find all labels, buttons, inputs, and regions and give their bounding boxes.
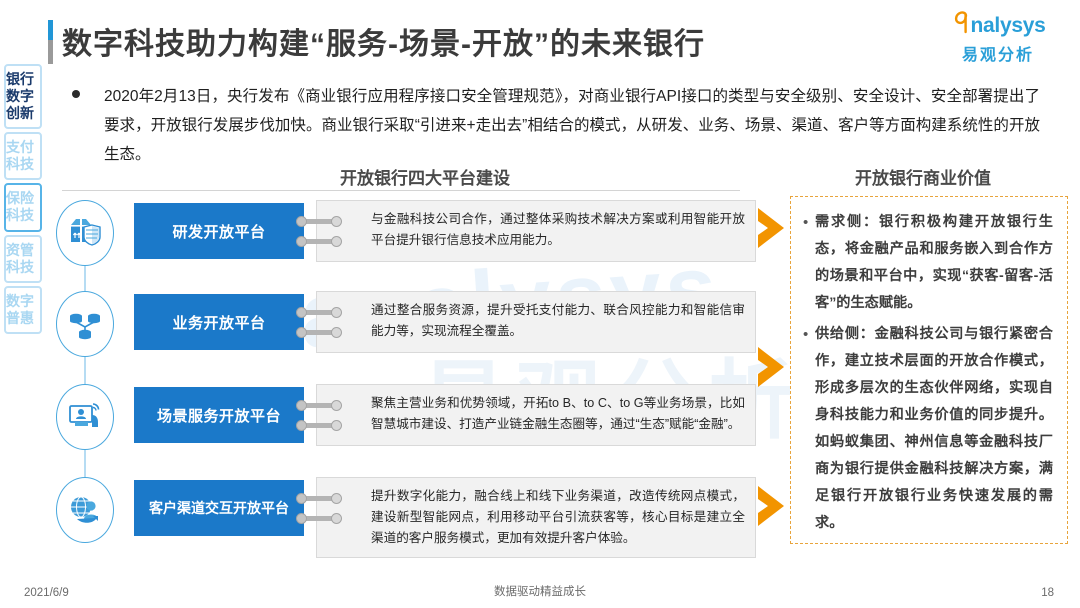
value-item-demand-side: • 需求侧：银行积极构建开放银行生态，将金融产品和服务嵌入到合作方的场景和平台中… bbox=[803, 209, 1053, 317]
platform-label-1[interactable]: 研发开放平台 bbox=[134, 203, 304, 259]
connector-pin-2a bbox=[296, 307, 342, 318]
sidebar-item-insurance-tech[interactable]: 保险科技 bbox=[4, 183, 42, 231]
platform-label-3[interactable]: 场景服务开放平台 bbox=[134, 387, 304, 443]
connector-pin-3b bbox=[296, 420, 342, 431]
bullet-dot-icon bbox=[72, 90, 80, 98]
package-shield-icon bbox=[56, 200, 114, 266]
footer-slogan: 数据驱动精益成长 bbox=[0, 583, 1080, 599]
page-title: 数字科技助力构建“服务-场景-开放”的未来银行 bbox=[62, 19, 705, 63]
platform-desc-2: 通过整合服务资源，提升受托支付能力、联合风控能力和智能信审能力等，实现流程全覆盖… bbox=[316, 291, 756, 353]
globe-customer-icon bbox=[56, 477, 114, 543]
value-bullet-icon-2: • bbox=[803, 321, 815, 537]
platform-desc-3: 聚焦主营业务和优势领域，开拓to B、to C、to G等业务场景，比如智慧城市… bbox=[316, 384, 756, 446]
slide-canvas: analysys 易观分析 数字科技助力构建“服务-场景-开放”的未来银行 na… bbox=[0, 0, 1080, 608]
platform-label-4[interactable]: 客户渠道交互开放平台 bbox=[134, 480, 304, 536]
sidebar-item-digital-inclusive-finance[interactable]: 数字普惠 bbox=[4, 286, 42, 334]
section-divider-left bbox=[62, 190, 740, 191]
screen-user-wifi-icon bbox=[56, 384, 114, 450]
value-bullet-icon-1: • bbox=[803, 209, 815, 317]
logo-swirl-icon bbox=[951, 11, 971, 40]
analysys-logo: nalysys 易观分析 bbox=[938, 12, 1058, 65]
logo-chinese-name: 易观分析 bbox=[938, 41, 1058, 65]
title-accent-bar bbox=[48, 20, 53, 64]
intro-text: 2020年2月13日，央行发布《商业银行应用程序接口安全管理规范》，对商业银行A… bbox=[104, 82, 1040, 169]
platform-desc-4: 提升数字化能力，融合线上和线下业务渠道，改造传统网点模式，建设新型智能网点，利用… bbox=[316, 477, 756, 558]
sidebar-item-label-0: 银行数字创新 bbox=[6, 71, 40, 122]
value-text-1: 需求侧：银行积极构建开放银行生态，将金融产品和服务嵌入到合作方的场景和平台中，实… bbox=[815, 209, 1053, 317]
platform-label-2[interactable]: 业务开放平台 bbox=[134, 294, 304, 350]
chevron-right-icon-1 bbox=[756, 205, 790, 251]
intro-paragraph: 2020年2月13日，央行发布《商业银行应用程序接口安全管理规范》，对商业银行A… bbox=[72, 82, 1040, 169]
connector-pin-1a bbox=[296, 216, 342, 227]
value-text-2: 供给侧：金融科技公司与银行紧密合作，建立技术层面的开放合作模式，形成多层次的生态… bbox=[815, 321, 1053, 537]
sidebar-item-payment-tech[interactable]: 支付科技 bbox=[4, 132, 42, 180]
sidebar-item-label-1: 支付科技 bbox=[6, 139, 40, 173]
business-value-panel: • 需求侧：银行积极构建开放银行生态，将金融产品和服务嵌入到合作方的场景和平台中… bbox=[790, 196, 1068, 544]
sidebar-item-label-4: 数字普惠 bbox=[6, 293, 40, 327]
sidebar-tabs: 银行数字创新 支付科技 保险科技 资管科技 数字普惠 bbox=[4, 64, 44, 337]
chevron-right-icon-2 bbox=[756, 344, 790, 390]
sidebar-item-label-3: 资管科技 bbox=[6, 242, 40, 276]
sidebar-item-asset-management-tech[interactable]: 资管科技 bbox=[4, 235, 42, 283]
database-network-icon bbox=[56, 291, 114, 357]
platform-desc-1: 与金融科技公司合作，通过整体采购技术解决方案或利用智能开放平台提升银行信息技术应… bbox=[316, 200, 756, 262]
connector-pin-4a bbox=[296, 493, 342, 504]
footer-page-number: 18 bbox=[1041, 587, 1054, 599]
section-title-platforms: 开放银行四大平台建设 bbox=[340, 164, 510, 189]
connector-pin-2b bbox=[296, 327, 342, 338]
connector-pin-3a bbox=[296, 400, 342, 411]
timeline-spine bbox=[84, 248, 86, 508]
value-item-supply-side: • 供给侧：金融科技公司与银行紧密合作，建立技术层面的开放合作模式，形成多层次的… bbox=[803, 321, 1053, 537]
chevron-right-icon-3 bbox=[756, 483, 790, 529]
connector-pin-4b bbox=[296, 513, 342, 524]
logo-wordmark: nalysys bbox=[971, 15, 1046, 36]
connector-pin-1b bbox=[296, 236, 342, 247]
sidebar-item-bank-digital-innovation[interactable]: 银行数字创新 bbox=[4, 64, 42, 129]
sidebar-item-label-2: 保险科技 bbox=[6, 190, 40, 224]
section-title-business-value: 开放银行商业价值 bbox=[855, 164, 991, 189]
